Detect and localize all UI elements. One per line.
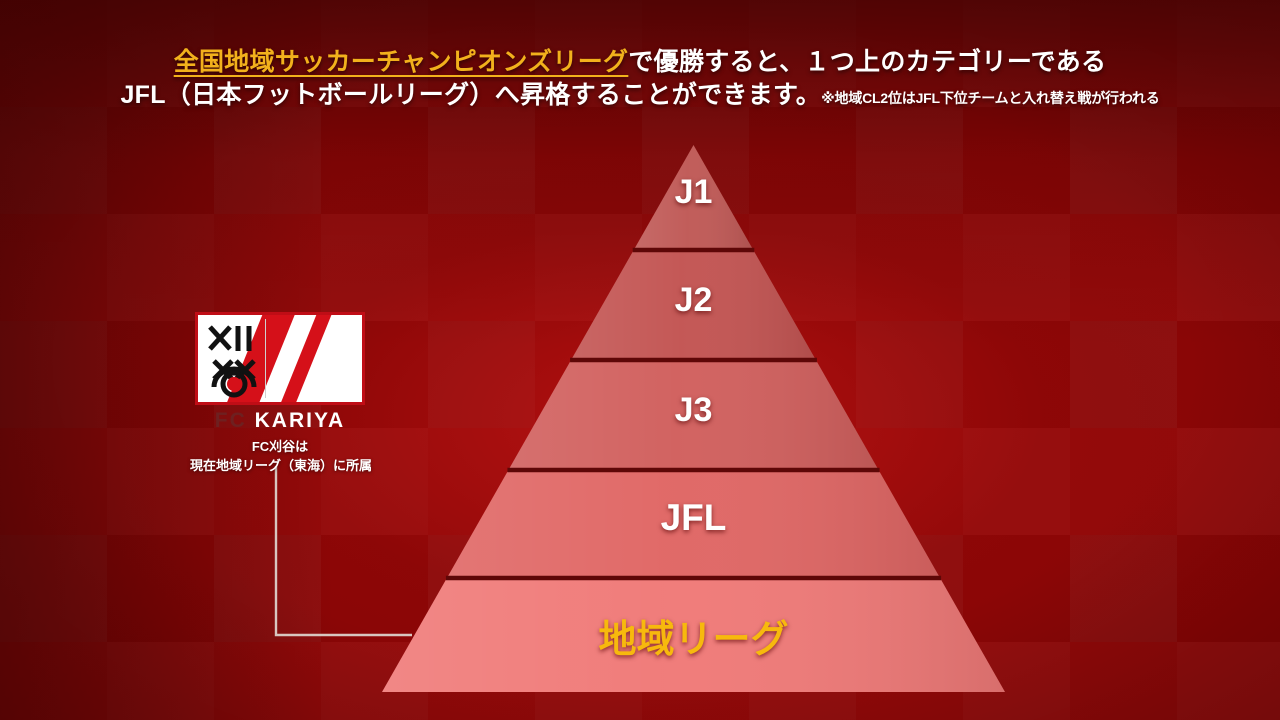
logo-vertical-divider: [265, 319, 266, 398]
pyramid-tier-sheen: [508, 360, 878, 470]
logo-xii-crest-icon: [206, 321, 264, 399]
pyramid-tier-sheen: [571, 250, 816, 360]
pyramid-tier-sheen: [634, 145, 754, 250]
badge-caption-line-2: 現在地域リーグ（東海）に所属: [190, 457, 370, 476]
wordmark-kariya: KARIYA: [255, 409, 346, 432]
wordmark-fc: FC: [215, 409, 247, 432]
pyramid-tier-sheen: [382, 578, 1005, 692]
fc-kariya-logo: [195, 312, 365, 405]
slide-canvas: 全国地域サッカーチャンピオンズリーグで優勝すると、１つ上のカテゴリーである JF…: [0, 0, 1280, 720]
pyramid-tier-sheen: [447, 470, 940, 578]
badge-caption-line-1: FC刈谷は: [190, 438, 370, 457]
fc-kariya-wordmark: FC KARIYA: [190, 409, 370, 433]
fc-kariya-badge[interactable]: FC KARIYA FC刈谷は 現在地域リーグ（東海）に所属: [190, 312, 370, 476]
badge-caption: FC刈谷は 現在地域リーグ（東海）に所属: [190, 438, 370, 476]
